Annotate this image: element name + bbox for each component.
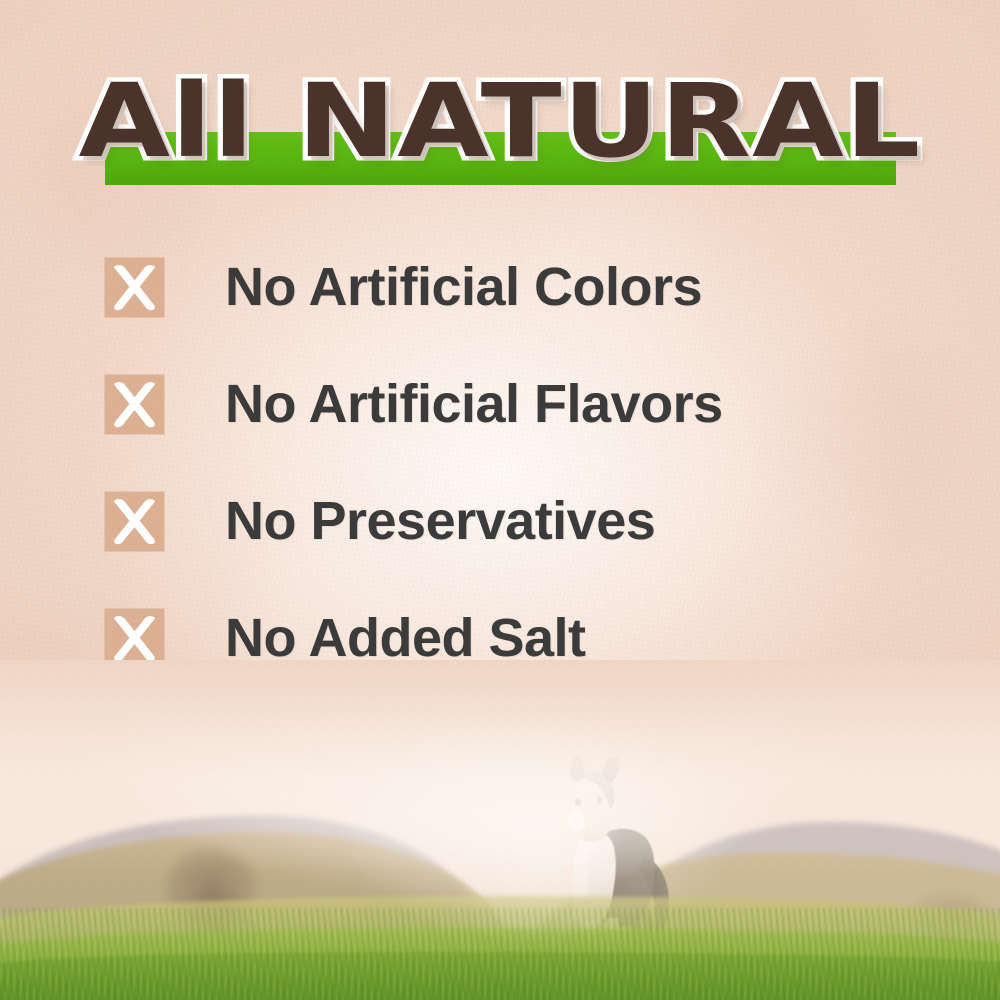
x-mark-icon bbox=[105, 492, 164, 551]
claim-row: No Artificial Colors bbox=[105, 258, 965, 317]
x-mark-icon bbox=[105, 375, 164, 434]
claims-list: No Artificial Colors No Artificial Flavo… bbox=[105, 258, 965, 726]
headline-text: All NATURAL bbox=[0, 70, 1000, 174]
claim-label: No Artificial Flavors bbox=[225, 375, 723, 434]
grass-texture bbox=[0, 908, 1000, 1000]
claim-label: No Artificial Colors bbox=[225, 258, 702, 317]
headline-banner: All NATURAL bbox=[0, 70, 1000, 195]
claim-row: No Artificial Flavors bbox=[105, 375, 965, 434]
claim-label: No Preservatives bbox=[225, 492, 655, 551]
all-natural-poster: All NATURAL No Artificial Colors No Arti… bbox=[0, 0, 1000, 1000]
landscape-photo bbox=[0, 660, 1000, 1000]
claim-row: No Preservatives bbox=[105, 492, 965, 551]
x-mark-icon bbox=[105, 258, 164, 317]
